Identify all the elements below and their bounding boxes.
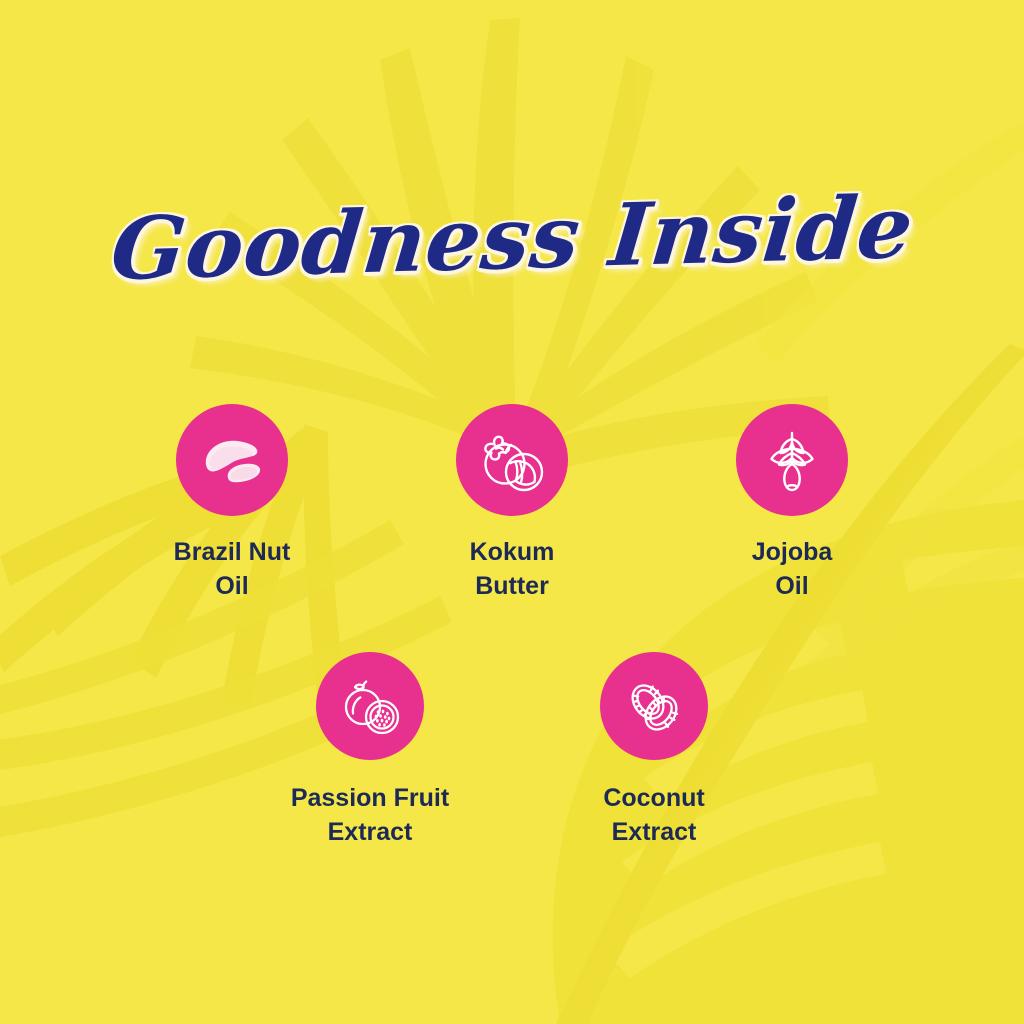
ingredient-coconut-extract[interactable]: Coconut Extract — [598, 652, 710, 850]
ingredient-label: Brazil Nut Oil — [174, 536, 291, 604]
page-title: Goodness Inside — [107, 185, 916, 293]
ingredient-label: Passion Fruit Extract — [291, 782, 449, 850]
goodness-inside-poster: Goodness Inside Brazil Nut Oil — [0, 0, 1024, 1024]
ingredient-label-line1: Passion Fruit — [291, 784, 449, 812]
ingredient-label-line1: Kokum — [470, 538, 555, 566]
ingredient-label-line1: Brazil Nut — [174, 538, 291, 566]
kokum-fruit-icon — [472, 420, 552, 500]
ingredient-label-line1: Coconut — [603, 784, 704, 812]
ingredient-label: Kokum Butter — [470, 536, 555, 604]
coconut-icon — [617, 669, 691, 743]
ingredient-label: Jojoba Oil — [752, 536, 833, 604]
ingredient-brazil-nut-oil[interactable]: Brazil Nut Oil — [176, 404, 288, 604]
ingredient-label: Coconut Extract — [603, 782, 704, 850]
ingredient-badge — [600, 652, 708, 760]
brazil-nut-icon — [193, 421, 271, 499]
ingredient-label-line2: Oil — [174, 570, 291, 604]
ingredient-label-line2: Oil — [752, 570, 833, 604]
ingredient-badge — [736, 404, 848, 516]
ingredient-passion-fruit-extract[interactable]: Passion Fruit Extract — [314, 652, 426, 850]
ingredient-kokum-butter[interactable]: Kokum Butter — [456, 404, 568, 604]
jojoba-plant-icon — [753, 421, 831, 499]
ingredient-label-line2: Extract — [291, 816, 449, 850]
title-block: Goodness Inside — [0, 196, 1024, 282]
ingredients-row-bottom: Passion Fruit Extract — [0, 652, 1024, 850]
ingredient-label-line2: Extract — [603, 816, 704, 850]
ingredients-row-top: Brazil Nut Oil — [0, 404, 1024, 604]
ingredient-badge — [456, 404, 568, 516]
ingredient-badge — [176, 404, 288, 516]
ingredient-badge — [316, 652, 424, 760]
ingredient-label-line2: Butter — [470, 570, 555, 604]
ingredient-label-line1: Jojoba — [752, 538, 833, 566]
passion-fruit-icon — [333, 669, 407, 743]
ingredient-jojoba-oil[interactable]: Jojoba Oil — [736, 404, 848, 604]
